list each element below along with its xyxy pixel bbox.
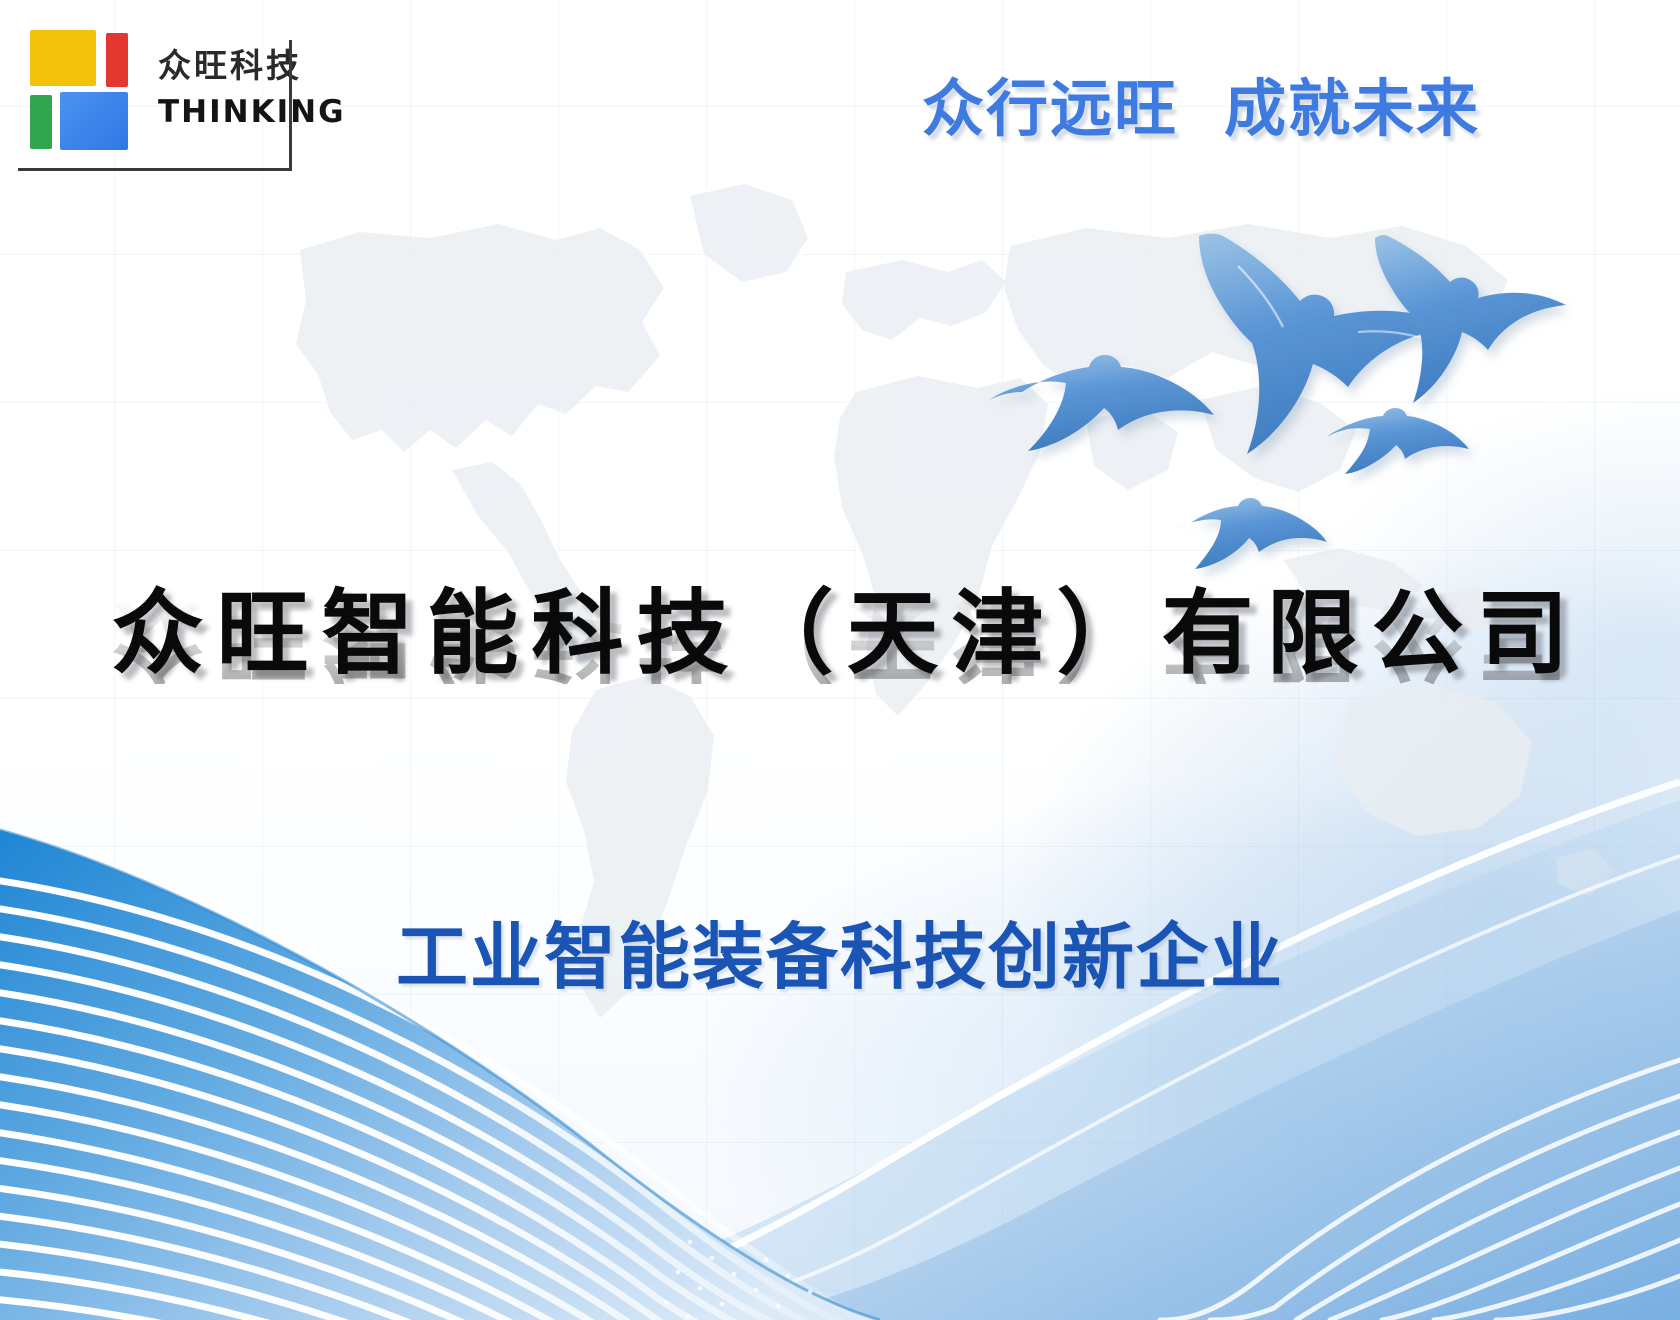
seagull-icon — [1177, 498, 1327, 569]
seagull-icon — [989, 355, 1214, 451]
slide-header: 众旺科技 THINKING 众行远旺成就未来 — [0, 0, 1680, 190]
tagline-left: 众行远旺 — [922, 72, 1178, 145]
logo-green-tile — [30, 95, 52, 149]
tagline-right: 成就未来 — [1224, 72, 1480, 145]
logo-red-tile — [106, 33, 128, 87]
seagull-icon — [1375, 235, 1566, 403]
logo-mark-icon — [30, 30, 130, 148]
presentation-slide: 众旺科技 THINKING 众行远旺成就未来 众旺智能科技（天津）有限公司 众旺… — [0, 0, 1680, 1320]
bottom-wave-decoration — [0, 760, 1680, 1320]
logo-underline-rule — [18, 168, 292, 171]
company-logo: 众旺科技 THINKING — [30, 30, 346, 148]
header-tagline: 众行远旺成就未来 — [922, 58, 1480, 148]
title-block: 众旺智能科技（天津）有限公司 众旺智能科技（天津）有限公司 — [0, 588, 1680, 776]
logo-blue-tile — [60, 92, 128, 150]
logo-name-cn: 众旺科技 — [158, 47, 346, 85]
seagull-icon — [1327, 408, 1469, 474]
logo-yellow-tile — [30, 30, 96, 86]
page-subtitle: 工业智能装备科技创新企业 — [0, 898, 1680, 1003]
page-title-reflection: 众旺智能科技（天津）有限公司 — [0, 592, 1680, 684]
logo-side-rule — [289, 40, 292, 171]
seagull-icon — [1199, 234, 1458, 454]
logo-wordmark: 众旺科技 THINKING — [158, 30, 346, 148]
logo-name-en: THINKING — [158, 95, 346, 131]
